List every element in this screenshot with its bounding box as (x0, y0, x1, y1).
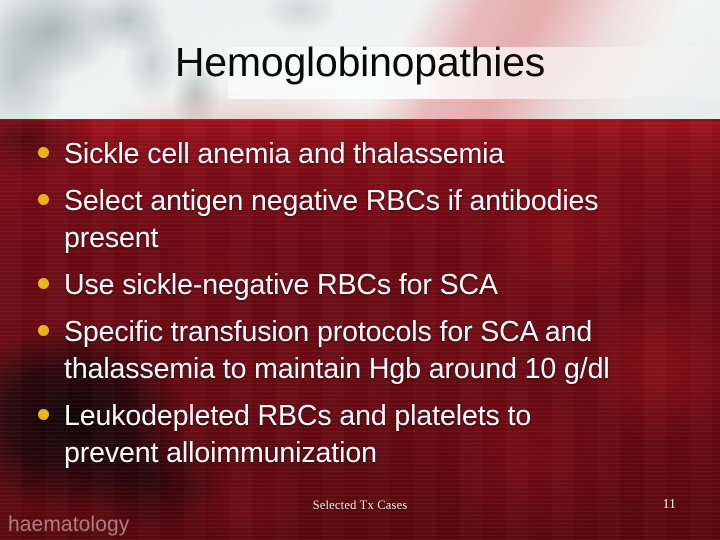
list-item: Sickle cell anemia and thalassemia (0, 136, 518, 173)
bullet-marker-icon (38, 278, 49, 289)
bullet-text: Select antigen negative RBCs if antibodi… (64, 183, 676, 257)
body-top-edge-highlight (0, 119, 720, 121)
footer-label: Selected Tx Cases (0, 498, 720, 513)
list-item: Leukodepleted RBCs and platelets to prev… (0, 398, 640, 472)
bullet-text: Use sickle-negative RBCs for SCA (64, 267, 498, 304)
presentation-slide: Hemoglobinopathies Sickle cell anemia an… (0, 0, 720, 540)
bullet-marker-icon (38, 325, 49, 336)
watermark-label: haematology (8, 513, 129, 537)
bullet-marker-icon (38, 147, 49, 158)
list-item: Specific transfusion protocols for SCA a… (0, 314, 700, 388)
bullet-text: Specific transfusion protocols for SCA a… (64, 314, 686, 388)
slide-page-number: 11 (663, 497, 676, 513)
bullet-text: Sickle cell anemia and thalassemia (64, 136, 504, 173)
bullet-marker-icon (38, 194, 49, 205)
bullet-text: Leukodepleted RBCs and platelets to prev… (64, 398, 626, 472)
bullet-marker-icon (38, 409, 49, 420)
list-item: Use sickle-negative RBCs for SCA (0, 267, 512, 304)
list-item: Select antigen negative RBCs if antibodi… (0, 183, 690, 257)
slide-title: Hemoglobinopathies (0, 42, 720, 83)
